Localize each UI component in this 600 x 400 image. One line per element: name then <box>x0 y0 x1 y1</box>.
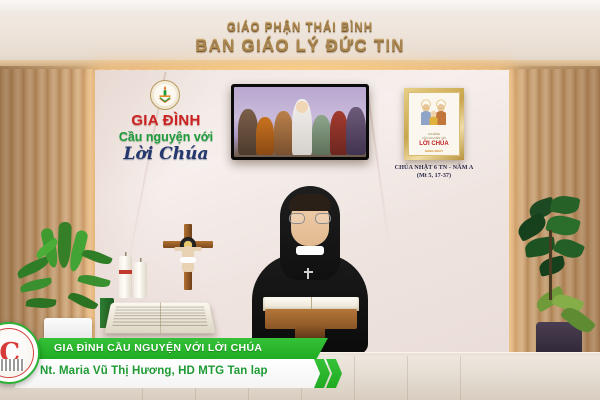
poster-line2: CẦU NGUYỆN VỚI <box>409 137 459 140</box>
cross-pendant-icon <box>307 268 309 279</box>
banner-presenter-bar: Nt. Maria Vũ Thị Hương, HD MTG Tan lap <box>14 359 330 388</box>
broadcast-frame: GIÁO PHẬN THÁI BÌNH BAN GIÁO LÝ ĐỨC TIN … <box>0 0 600 400</box>
diocese-flame-emblem <box>150 80 180 110</box>
lectern-with-book <box>255 297 367 339</box>
reading-caption-line1: CHÚA NHẬT 6 TN - NĂM A <box>380 164 488 171</box>
poster-artwork: GIA ĐÌNH CẦU NGUYỆN VỚI LỜI CHÚA HÀNG NG… <box>408 92 460 156</box>
department-name: BAN GIÁO LÝ ĐỨC TIN <box>0 36 600 56</box>
wall-title-line3: Lời Chúa <box>104 144 228 164</box>
book-stand <box>265 309 357 329</box>
saint-benedict-crucifix <box>163 224 213 290</box>
reading-caption-line2: (Mt 5, 17-37) <box>380 172 488 179</box>
presenter-collar <box>296 246 324 255</box>
poster-line3: LỜI CHÚA <box>409 141 459 147</box>
glasses-icon <box>289 213 331 224</box>
poster-line4: HÀNG NGÀY <box>409 149 459 153</box>
diocese-name: GIÁO PHẬN THÁI BÌNH <box>0 22 600 34</box>
candle-right <box>134 262 147 298</box>
banner-title: GIA ĐÌNH CẦU NGUYỆN VỚI LỜI CHÚA <box>54 342 262 354</box>
poster-line1: GIA ĐÌNH <box>409 133 459 136</box>
upper-wall <box>0 0 600 68</box>
presenter-hair <box>289 194 331 211</box>
display-content <box>234 87 366 157</box>
banner-title-bar: GIA ĐÌNH CẦU NGUYỆN VỚI LỜI CHÚA <box>28 338 328 360</box>
lower-third-banner: GIA ĐÌNH CẦU NGUYỆN VỚI LỜI CHÚA Nt. Mar… <box>14 338 340 388</box>
ficus-plant <box>505 196 600 336</box>
channel-logo-inner: C <box>0 328 34 378</box>
zz-plant <box>6 218 126 326</box>
wall-mounted-display <box>231 84 369 160</box>
bible-text-lines <box>112 307 208 329</box>
reading-caption: CHÚA NHẬT 6 TN - NĂM A (Mt 5, 17-37) <box>380 164 488 179</box>
framed-holy-family-poster: GIA ĐÌNH CẦU NGUYỆN VỚI LỜI CHÚA HÀNG NG… <box>404 88 464 160</box>
channel-logo-building-icon <box>0 359 24 371</box>
banner-presenter-name: Nt. Maria Vũ Thị Hương, HD MTG Tan lap <box>40 365 268 377</box>
wall-title-line1: GIA ĐÌNH <box>108 112 224 129</box>
wall-title-line2: Cầu nguyện với <box>104 130 228 144</box>
